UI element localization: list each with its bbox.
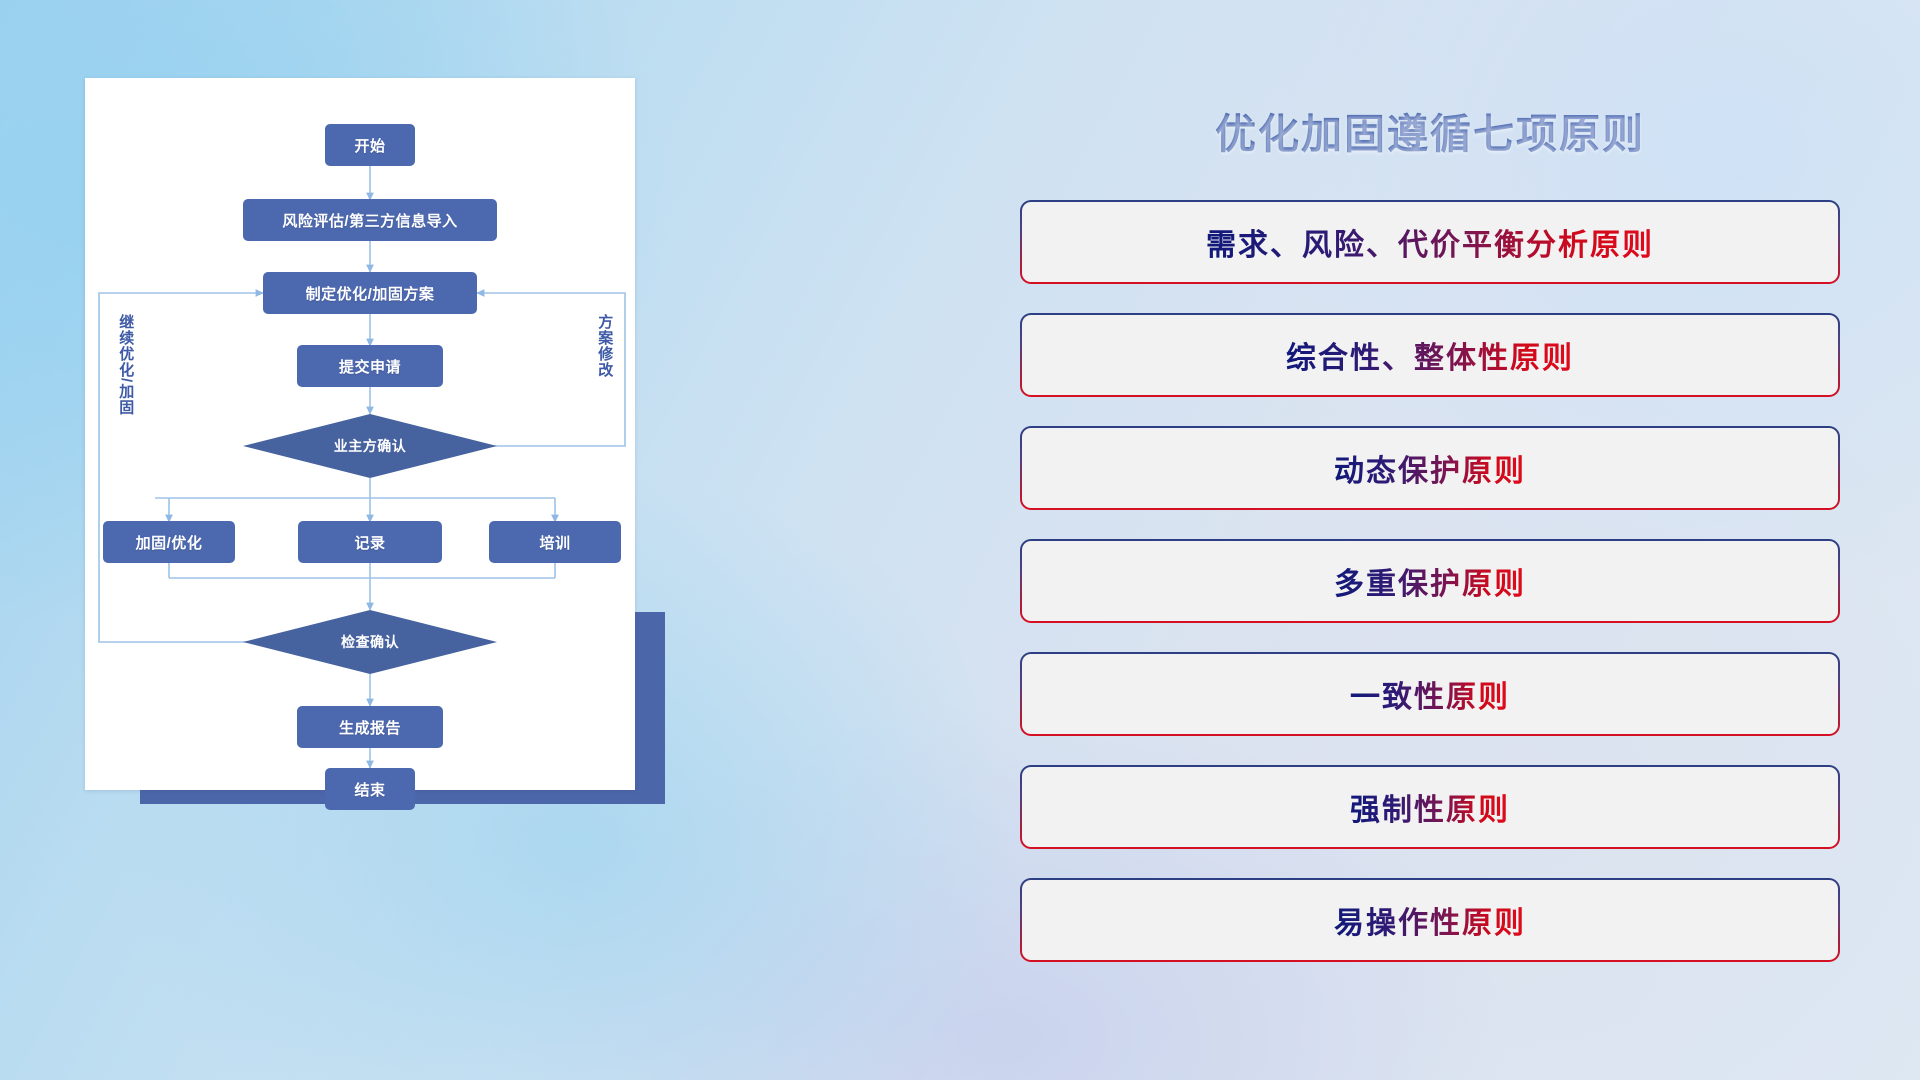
principle-label: 多重保护原则 (1334, 559, 1526, 603)
flow-node-record[interactable]: 记录 (298, 521, 442, 563)
principle-card-6[interactable]: 强制性原则 (1020, 765, 1840, 849)
flow-node-submit-application[interactable]: 提交申请 (297, 345, 443, 387)
flowchart-card: 开始 风险评估/第三方信息导入 制定优化/加固方案 提交申请 业主方确认 加固/… (85, 78, 635, 790)
principle-label: 动态保护原则 (1334, 446, 1526, 490)
flow-node-training[interactable]: 培训 (489, 521, 621, 563)
principle-card-7[interactable]: 易操作性原则 (1020, 878, 1840, 962)
flow-node-reinforce-optimize[interactable]: 加固/优化 (103, 521, 235, 563)
principle-card-2[interactable]: 综合性、整体性原则 (1020, 313, 1840, 397)
flow-node-generate-report[interactable]: 生成报告 (297, 706, 443, 748)
principle-card-inner: 动态保护原则 (1022, 428, 1838, 508)
principle-card-inner: 强制性原则 (1022, 767, 1838, 847)
principle-card-inner: 综合性、整体性原则 (1022, 315, 1838, 395)
principle-label: 强制性原则 (1350, 785, 1510, 829)
principle-card-inner: 多重保护原则 (1022, 541, 1838, 621)
principle-card-5[interactable]: 一致性原则 (1020, 652, 1840, 736)
flow-node-make-plan[interactable]: 制定优化/加固方案 (263, 272, 477, 314)
panel-title: 优化加固遵循七项原则 (1020, 100, 1840, 160)
principle-label: 需求、风险、代价平衡分析原则 (1206, 220, 1654, 264)
flow-edge-label-continue-optimize: 继续优化/加固 (118, 314, 133, 415)
slide-canvas: 开始 风险评估/第三方信息导入 制定优化/加固方案 提交申请 业主方确认 加固/… (0, 0, 1920, 1080)
principle-card-inner: 一致性原则 (1022, 654, 1838, 734)
principle-card-4[interactable]: 多重保护原则 (1020, 539, 1840, 623)
principle-card-inner: 需求、风险、代价平衡分析原则 (1022, 202, 1838, 282)
principle-card-inner: 易操作性原则 (1022, 880, 1838, 960)
principle-card-1[interactable]: 需求、风险、代价平衡分析原则 (1020, 200, 1840, 284)
flow-edge-label-revise-plan: 方案修改 (597, 314, 612, 378)
flow-node-risk-assessment[interactable]: 风险评估/第三方信息导入 (243, 199, 497, 241)
principle-label: 综合性、整体性原则 (1286, 333, 1574, 377)
flow-node-end[interactable]: 结束 (325, 768, 415, 810)
principle-label: 一致性原则 (1350, 672, 1510, 716)
principles-panel: 优化加固遵循七项原则 需求、风险、代价平衡分析原则 综合性、整体性原则 动态保护… (1020, 70, 1840, 1030)
principle-card-3[interactable]: 动态保护原则 (1020, 426, 1840, 510)
principle-label: 易操作性原则 (1334, 898, 1526, 942)
flow-node-start[interactable]: 开始 (325, 124, 415, 166)
